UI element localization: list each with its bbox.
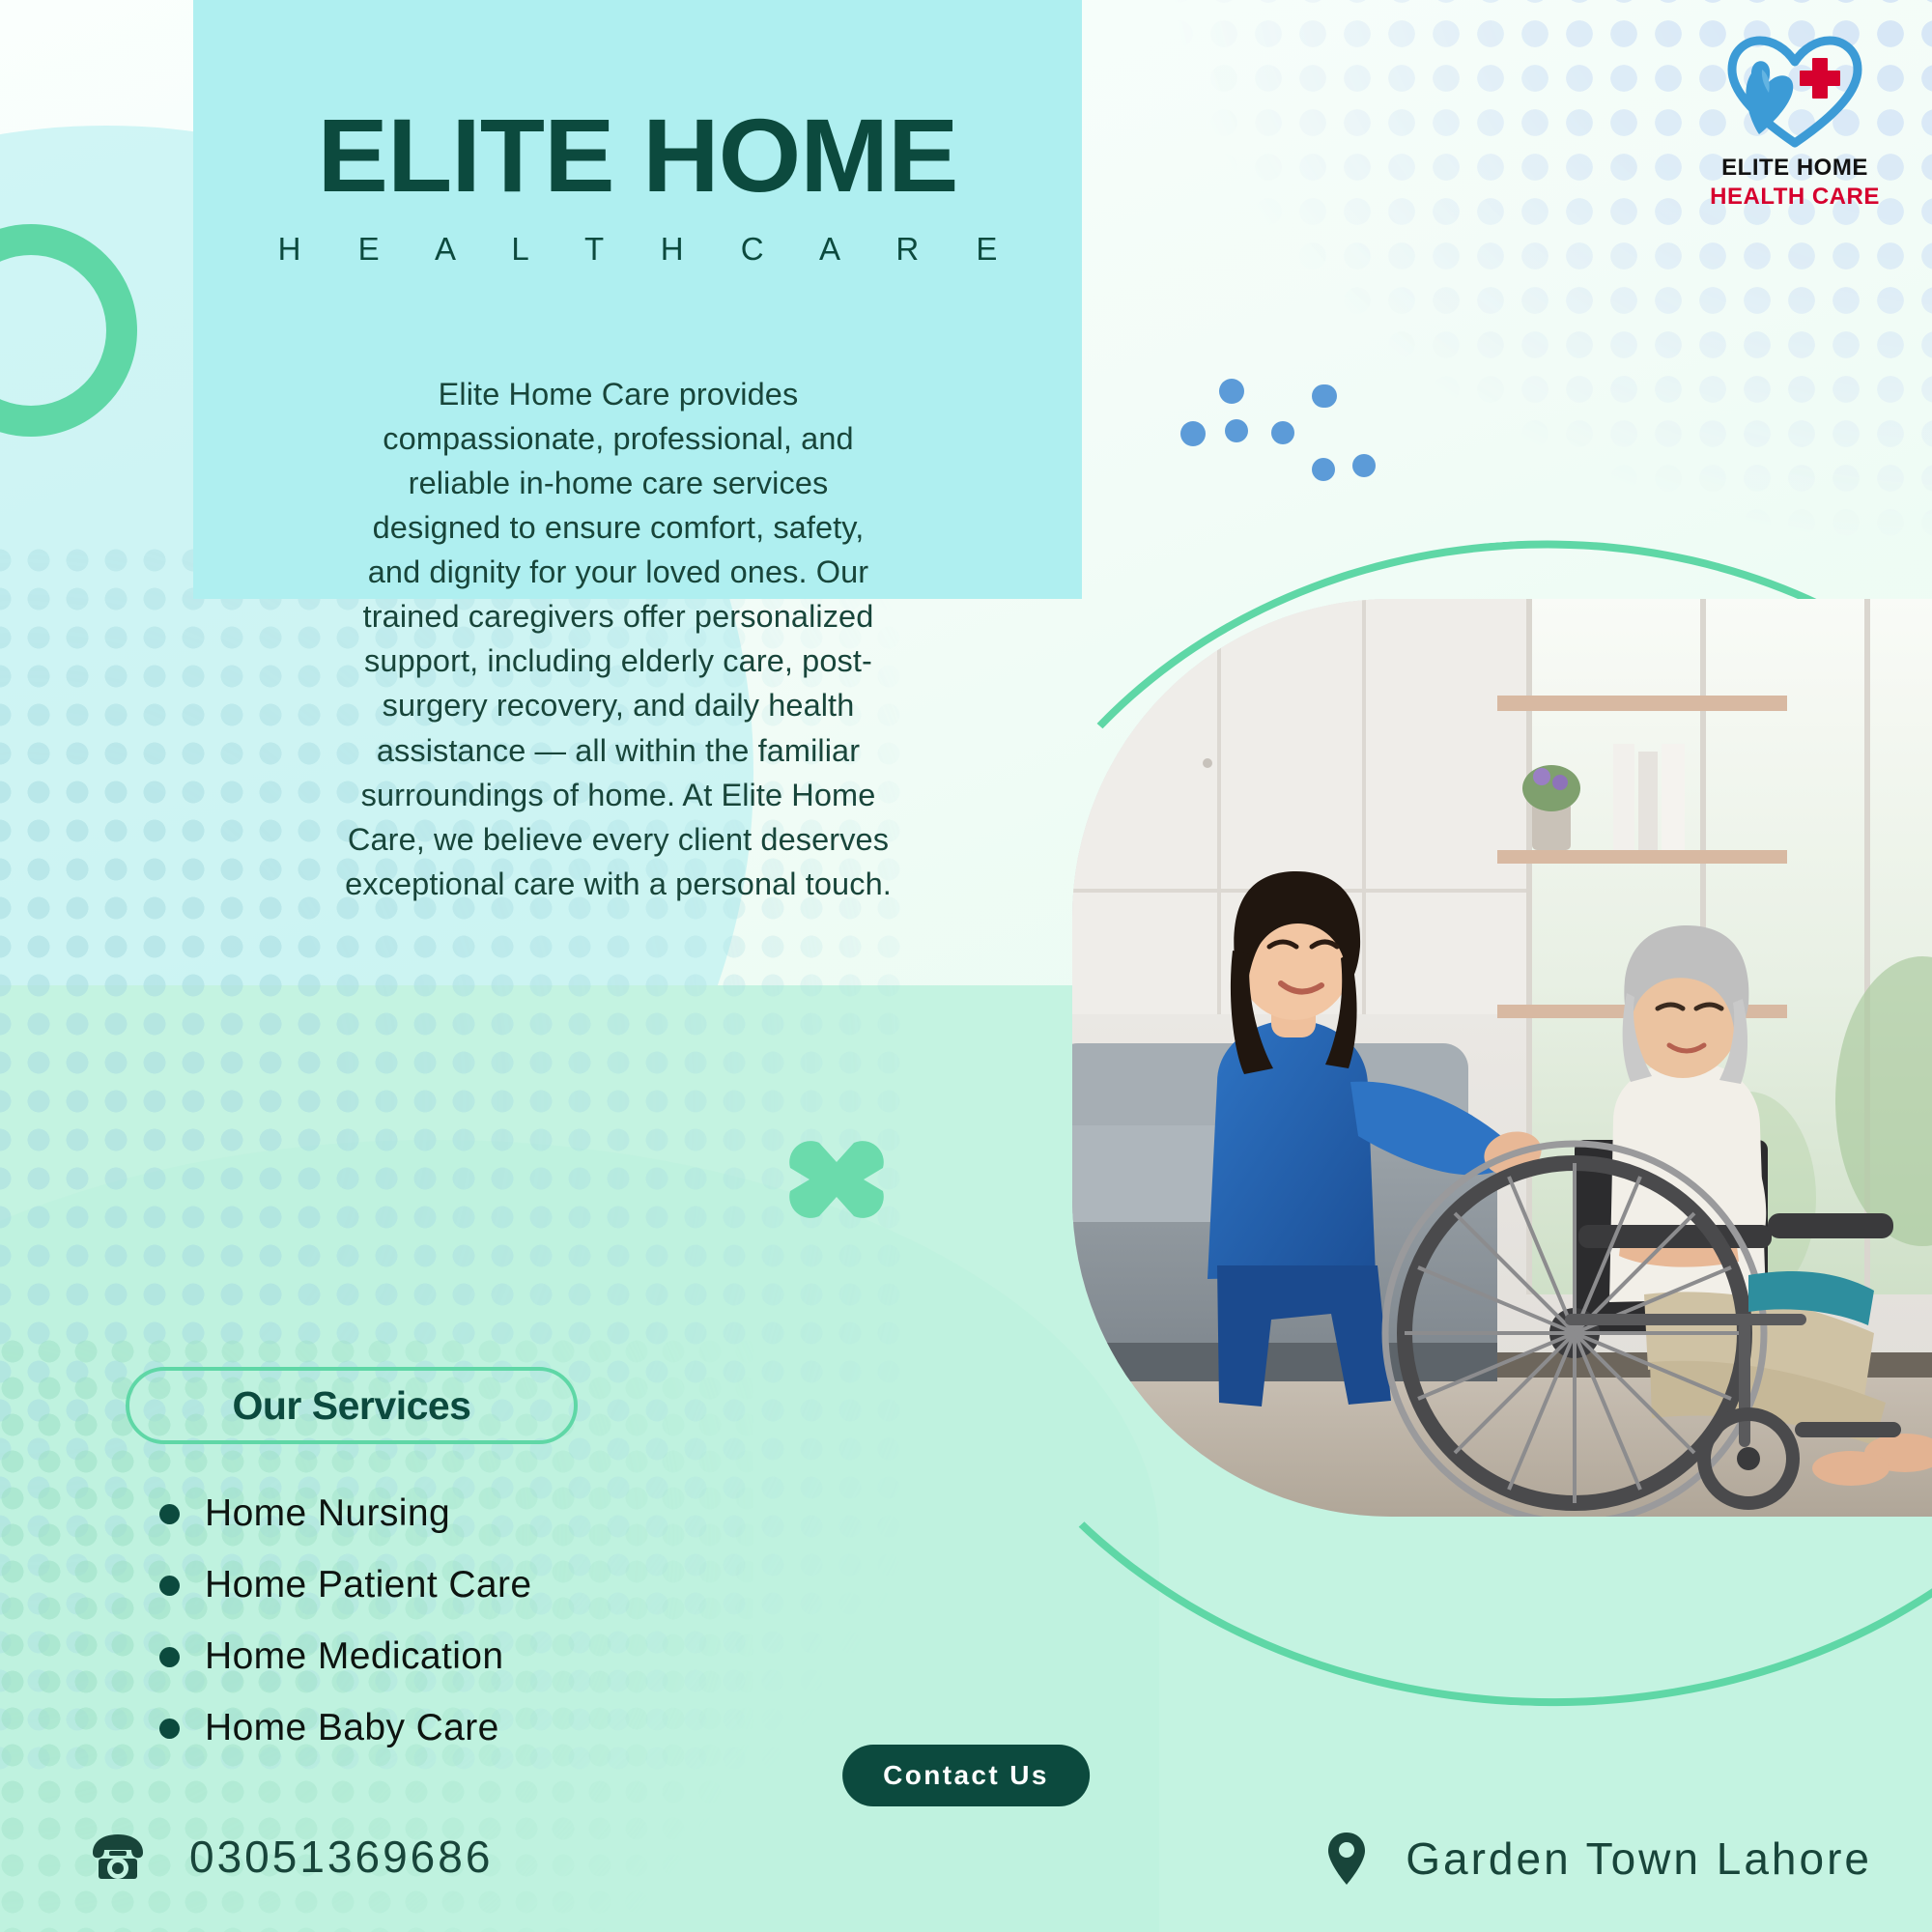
accent-dot — [1225, 419, 1248, 442]
list-item[interactable]: Home Medication — [159, 1635, 531, 1678]
accent-dot — [1219, 379, 1244, 404]
service-label: Home Patient Care — [205, 1564, 531, 1606]
cross-ornament-icon — [782, 1125, 891, 1234]
list-item[interactable]: Home Patient Care — [159, 1564, 531, 1606]
accent-dot — [1314, 384, 1337, 408]
accent-dot — [1271, 421, 1294, 444]
list-item[interactable]: Home Nursing — [159, 1492, 531, 1535]
services-heading-pill: Our Services — [126, 1367, 578, 1444]
list-item[interactable]: Home Baby Care — [159, 1707, 531, 1749]
accent-dot — [1352, 454, 1376, 477]
logo-text-primary: ELITE HOME — [1698, 155, 1891, 182]
services-list: Home Nursing Home Patient Care Home Medi… — [159, 1492, 531, 1778]
footer-location[interactable]: Garden Town Lahore — [1326, 1831, 1872, 1887]
poster-canvas: ELITE HOME H E A L T H C A R E Elite Hom… — [0, 0, 1932, 1932]
hero-photo — [1072, 599, 1932, 1517]
service-label: Home Baby Care — [205, 1707, 499, 1749]
intro-paragraph: Elite Home Care provides compassionate, … — [343, 372, 894, 907]
services-heading-label: Our Services — [233, 1383, 471, 1429]
page-title: ELITE HOME — [185, 106, 1091, 206]
company-logo: ELITE HOME HEALTH CARE — [1698, 35, 1891, 211]
bullet-icon — [159, 1719, 180, 1739]
map-pin-icon — [1326, 1831, 1367, 1887]
phone-number: 03051369686 — [189, 1831, 493, 1883]
heart-hand-medical-cross-icon — [1722, 35, 1867, 149]
bullet-icon — [159, 1576, 180, 1596]
location-name: Garden Town Lahore — [1406, 1833, 1872, 1885]
service-label: Home Medication — [205, 1635, 503, 1678]
bullet-icon — [159, 1647, 180, 1667]
page-subtitle: H E A L T H C A R E — [193, 231, 1082, 268]
bullet-icon — [159, 1504, 180, 1524]
contact-us-button[interactable]: Contact Us — [842, 1745, 1090, 1806]
logo-text-secondary: HEALTH CARE — [1698, 184, 1891, 211]
service-label: Home Nursing — [205, 1492, 450, 1535]
footer-phone[interactable]: 03051369686 — [89, 1831, 493, 1883]
brand-title-block: ELITE HOME H E A L T H C A R E — [193, 106, 1082, 268]
accent-dot — [1180, 421, 1206, 446]
telephone-icon — [89, 1832, 147, 1882]
accent-dot — [1312, 458, 1335, 481]
